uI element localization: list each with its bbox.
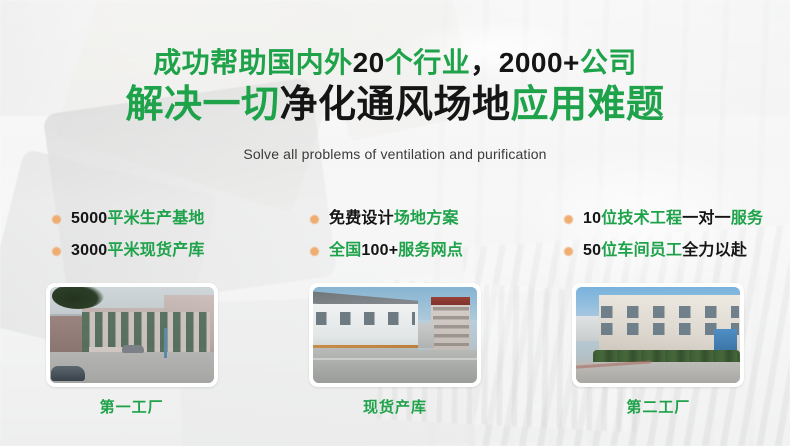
feature-item-label: 免费设计场地方案 (329, 209, 459, 229)
headline-line-2: 解决一切净化通风场地应用难题 (0, 82, 790, 128)
headline-line-1-segment-0: 成功帮助国内外 (153, 47, 353, 78)
bullet-dot-icon (310, 215, 319, 224)
bullet-dot-icon (52, 215, 61, 224)
headline-line-2-segment-2: 应用难题 (511, 84, 665, 126)
feature-item: 3000平米现货产库 (52, 241, 278, 261)
feature-columns: 5000平米生产基地3000平米现货产库 免费设计场地方案全国100+服务网点 … (0, 205, 790, 275)
feature-column-1: 5000平米生产基地3000平米现货产库 (0, 205, 278, 275)
feature-item-label: 全国100+服务网点 (329, 241, 463, 261)
feature-2-1-segment-2: 全力以赴 (682, 242, 747, 259)
bullet-dot-icon (52, 247, 61, 256)
feature-item: 10位技术工程一对一服务 (564, 209, 790, 229)
headline-line-1-segment-3: ，2000+ (470, 47, 580, 78)
thumbnail-frame[interactable] (46, 283, 218, 387)
feature-2-0-segment-1: 位技术工程 (601, 210, 682, 227)
thumbnail-frame[interactable] (572, 283, 744, 387)
headline-line-1-segment-1: 20 (353, 47, 385, 78)
feature-item-label: 50位车间员工全力以赴 (583, 241, 747, 261)
feature-1-1-segment-2: 服务网点 (398, 242, 463, 259)
feature-item-label: 5000平米生产基地 (71, 209, 205, 229)
thumbnail-frame[interactable] (309, 283, 481, 387)
bullet-dot-icon (564, 247, 573, 256)
headline-line-1-segment-2: 个行业 (385, 47, 471, 78)
promo-banner: 成功帮助国内外20个行业，2000+公司 解决一切净化通风场地应用难题 Solv… (0, 0, 790, 446)
feature-item: 50位车间员工全力以赴 (564, 241, 790, 261)
feature-1-0-segment-0: 免费设计 (329, 210, 394, 227)
thumbnail-item[interactable]: 现货产库 (263, 283, 526, 443)
feature-item: 免费设计场地方案 (310, 209, 536, 229)
thumbnail-item[interactable]: 第二工厂 (527, 283, 790, 443)
feature-column-3: 10位技术工程一对一服务50位车间员工全力以赴 (536, 205, 790, 275)
feature-0-0-segment-1: 平米生产基地 (107, 210, 204, 227)
feature-2-1-segment-0: 50 (583, 242, 601, 259)
feature-1-1-segment-1: 100+ (361, 242, 398, 259)
banner-content: 成功帮助国内外20个行业，2000+公司 解决一切净化通风场地应用难题 Solv… (0, 0, 790, 446)
headline-line-2-segment-0: 解决一切 (125, 84, 279, 126)
feature-1-0-segment-1: 场地方案 (394, 210, 459, 227)
feature-column-2: 免费设计场地方案全国100+服务网点 (278, 205, 536, 275)
feature-2-0-segment-3: 服务 (731, 210, 763, 227)
feature-1-1-segment-0: 全国 (329, 242, 361, 259)
thumbnail-caption: 第一工厂 (100, 398, 164, 418)
headline-line-1-segment-4: 公司 (580, 47, 637, 78)
feature-0-1-segment-1: 平米现货产库 (107, 242, 204, 259)
feature-0-1-segment-0: 3000 (71, 242, 107, 259)
stock-warehouse-photo (313, 287, 477, 383)
feature-2-0-segment-2: 一对一 (682, 210, 731, 227)
headline-line-2-segment-1: 净化通风场地 (279, 84, 510, 126)
thumbnail-item[interactable]: 第一工厂 (0, 283, 263, 443)
bullet-dot-icon (564, 215, 573, 224)
feature-2-1-segment-1: 位车间员工 (601, 242, 682, 259)
feature-item-label: 10位技术工程一对一服务 (583, 209, 763, 229)
headline-block: 成功帮助国内外20个行业，2000+公司 解决一切净化通风场地应用难题 (0, 46, 790, 128)
feature-2-0-segment-0: 10 (583, 210, 601, 227)
factory-building-one-photo (50, 287, 214, 383)
factory-building-two-photo (576, 287, 740, 383)
facility-thumbnails: 第一工厂 现货产库 (0, 283, 790, 443)
feature-item: 全国100+服务网点 (310, 241, 536, 261)
feature-item: 5000平米生产基地 (52, 209, 278, 229)
thumbnail-caption: 第二工厂 (626, 398, 690, 418)
headline-subtitle: Solve all problems of ventilation and pu… (0, 144, 790, 164)
headline-line-1: 成功帮助国内外20个行业，2000+公司 (0, 46, 790, 80)
feature-0-0-segment-0: 5000 (71, 210, 107, 227)
bullet-dot-icon (310, 247, 319, 256)
thumbnail-caption: 现货产库 (363, 398, 427, 418)
feature-item-label: 3000平米现货产库 (71, 241, 205, 261)
